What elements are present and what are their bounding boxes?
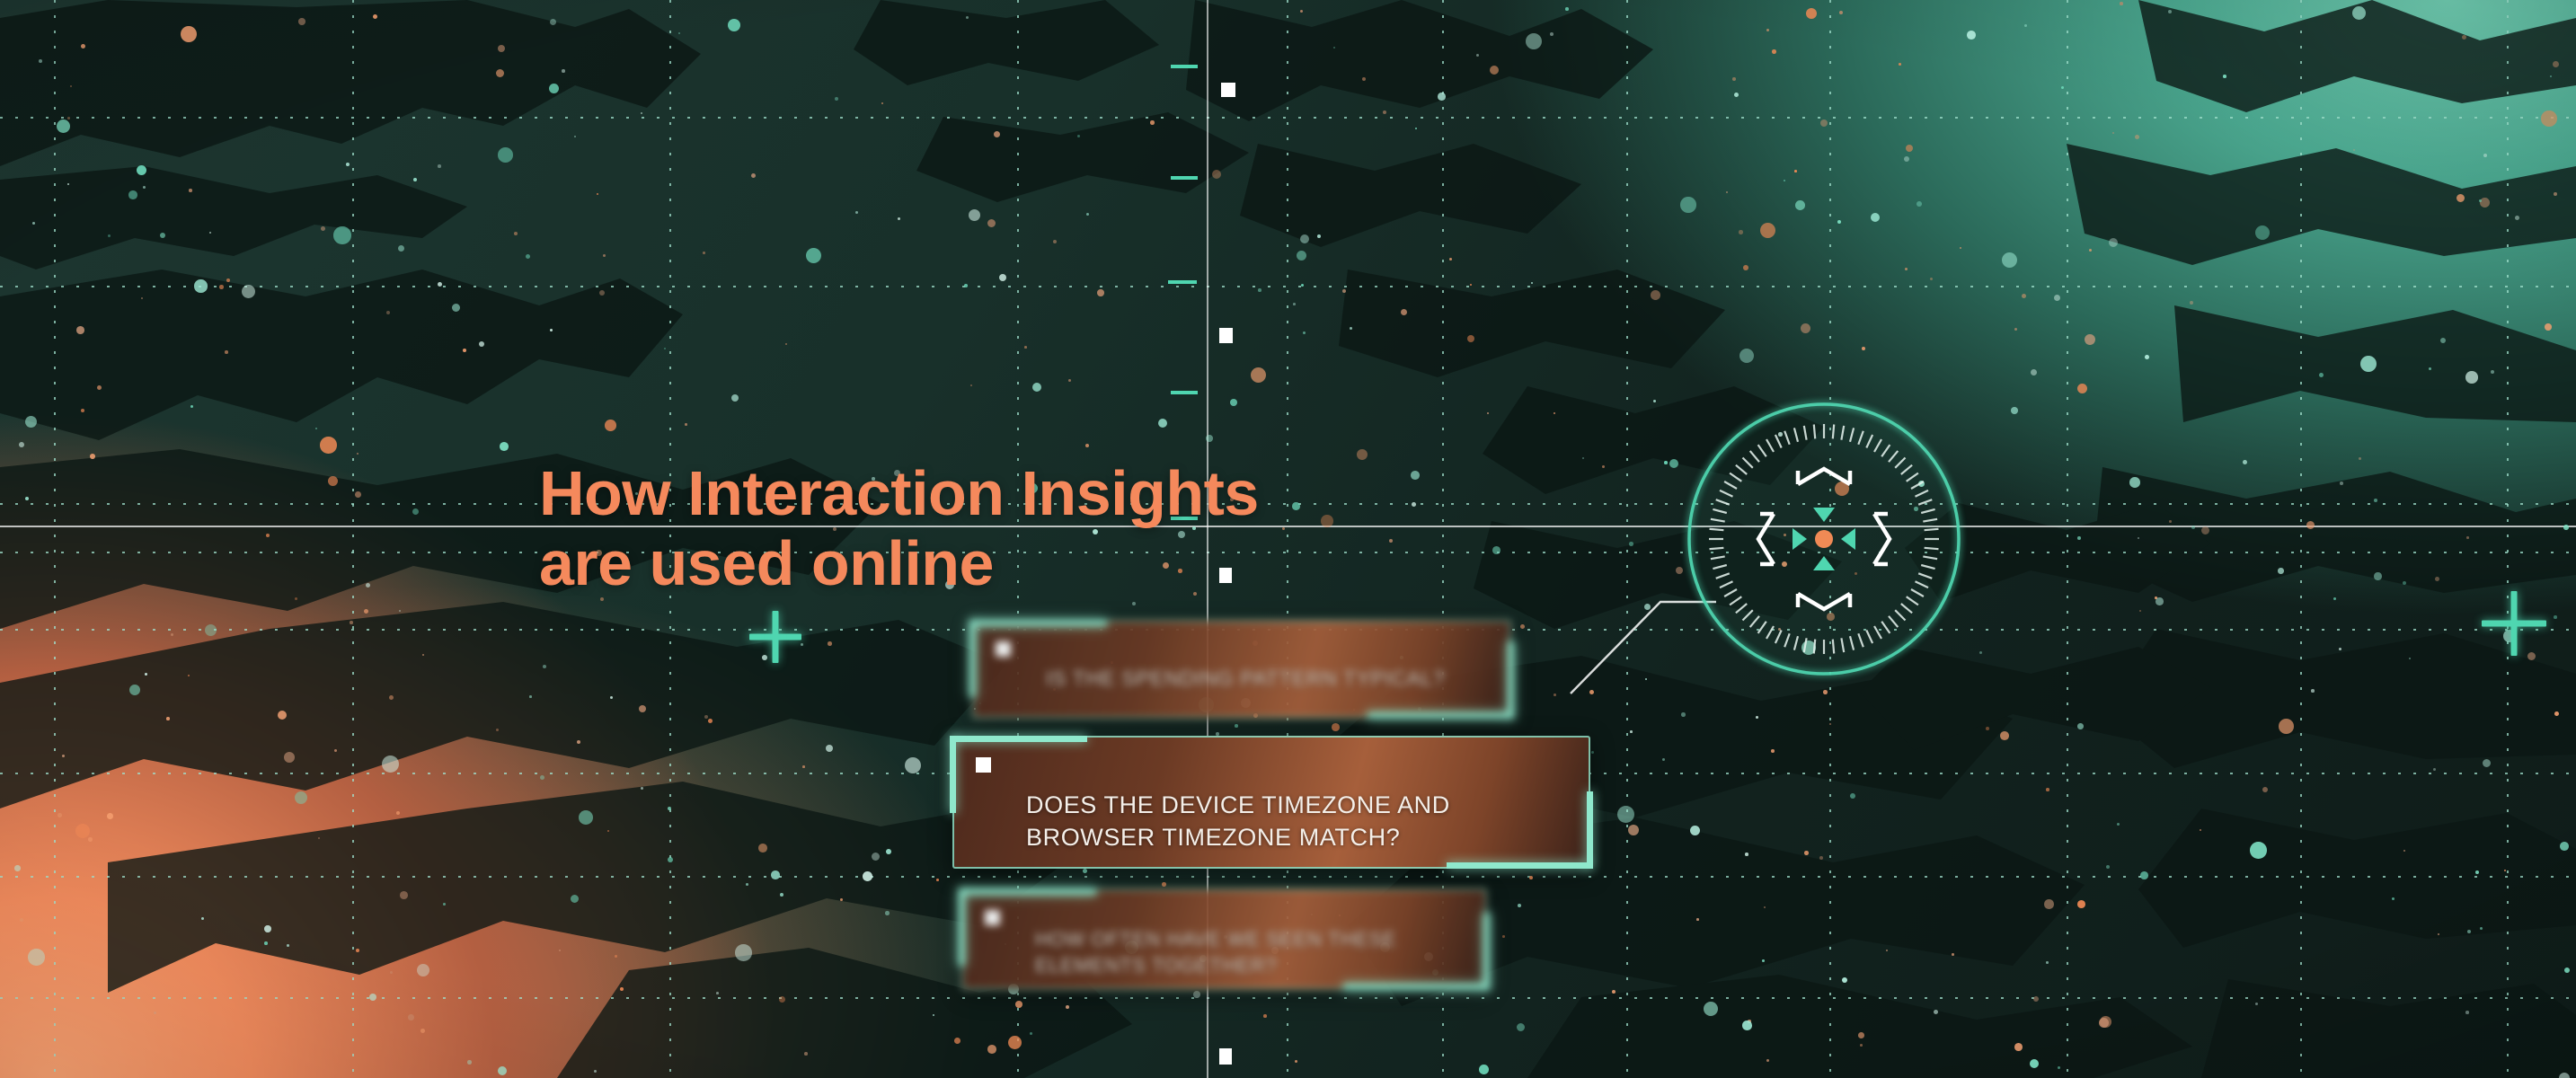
particle-dot	[577, 740, 580, 744]
particle-dot	[67, 183, 69, 185]
particle-dot	[771, 870, 780, 879]
card-accent-left	[950, 736, 956, 813]
particle-dot	[2466, 536, 2469, 539]
particle-dot	[728, 19, 740, 31]
particle-dot	[1230, 399, 1237, 406]
card-accent-bottom-right	[1343, 984, 1487, 990]
particle-dot	[2262, 787, 2268, 792]
particle-dot	[190, 405, 193, 408]
particle-dot	[264, 925, 271, 932]
particle-dot	[58, 813, 62, 817]
particle-dot	[1297, 251, 1306, 261]
particle-dot	[2109, 238, 2118, 247]
particle-dot	[999, 274, 1006, 281]
particle-dot	[264, 941, 268, 945]
particle-dot	[1629, 542, 1633, 546]
particle-dot	[2191, 526, 2195, 529]
particle-dot	[422, 654, 424, 656]
particle-dot	[2409, 658, 2411, 659]
particle-dot	[1820, 119, 1828, 127]
particle-dot	[2467, 930, 2471, 933]
particle-dot	[1742, 1021, 1752, 1030]
particle-dot	[1739, 230, 1743, 234]
particle-dot	[1952, 953, 1954, 956]
particle-dot	[1300, 10, 1303, 13]
particle-dot	[936, 879, 939, 881]
particle-dot	[382, 755, 399, 773]
particle-dot	[1150, 120, 1155, 125]
particle-dot	[390, 971, 393, 974]
crosshair-marker	[2482, 591, 2546, 656]
axis-tick-square	[1219, 1048, 1232, 1065]
particle-dot	[2061, 86, 2064, 89]
particle-dot	[1760, 223, 1775, 238]
particle-dot	[20, 918, 23, 922]
particle-dot	[970, 384, 972, 386]
particle-dot	[826, 745, 833, 752]
particle-dot	[39, 59, 42, 63]
particle-dot	[57, 119, 70, 133]
particle-dot	[1321, 515, 1333, 527]
particle-dot	[620, 987, 624, 991]
particle-dot	[107, 813, 113, 819]
particle-dot	[1077, 135, 1080, 137]
particle-dot	[1487, 412, 1489, 414]
particle-dot	[2014, 1043, 2023, 1051]
particle-dot	[2024, 24, 2027, 27]
particle-dot	[703, 252, 705, 254]
particle-dot	[886, 849, 891, 854]
particle-dot	[278, 711, 287, 720]
axis-tick-square	[1221, 83, 1235, 97]
particle-dot	[1526, 33, 1542, 49]
particle-dot	[2054, 295, 2060, 301]
particle-dot	[2046, 961, 2049, 964]
particle-dot	[2169, 520, 2172, 523]
particle-dot	[219, 285, 224, 289]
particle-dot	[2359, 457, 2361, 460]
particle-dot	[1449, 258, 1452, 261]
particle-dot	[716, 992, 719, 994]
particle-dot	[2333, 597, 2336, 600]
particle-dot	[2156, 597, 2164, 605]
particle-dot	[1362, 77, 1366, 81]
particle-dot	[417, 964, 429, 976]
particle-dot	[2429, 367, 2431, 370]
particle-dot	[1086, 213, 1089, 216]
particle-dot	[1930, 278, 1933, 280]
particle-dot	[1842, 977, 1847, 983]
particle-dot	[678, 32, 680, 34]
particle-dot	[2465, 1011, 2469, 1014]
particle-dot	[2374, 572, 2382, 580]
particle-dot	[1251, 367, 1266, 383]
particle-dot	[2155, 596, 2157, 599]
particle-dot	[863, 871, 872, 881]
particle-dot	[1764, 906, 1766, 908]
particle-dot	[2106, 865, 2110, 869]
particle-dot	[550, 329, 553, 331]
particle-dot	[1470, 284, 1472, 286]
particle-dot	[2440, 338, 2446, 343]
particle-dot	[1979, 651, 1982, 654]
particle-dot	[19, 442, 24, 447]
mint-dash	[1171, 65, 1198, 68]
particle-dot	[641, 112, 642, 114]
particle-dot	[2129, 477, 2140, 488]
particle-dot	[1317, 234, 1321, 238]
particle-dot	[14, 865, 21, 871]
particle-dot	[574, 136, 576, 137]
particle-dot	[779, 996, 785, 1003]
particle-dot	[1801, 323, 1810, 333]
particle-dot	[969, 209, 980, 221]
particle-dot	[194, 279, 208, 293]
particle-dot	[840, 898, 843, 901]
particle-dot	[2140, 871, 2148, 879]
particle-dot	[1860, 1044, 1863, 1047]
particle-dot	[413, 178, 417, 181]
particle-dot	[2563, 525, 2569, 530]
particle-dot	[954, 1038, 960, 1044]
particle-dot	[2223, 75, 2226, 78]
question-card-focused[interactable]: DOES THE DEVICE TIMEZONE AND BROWSER TIM…	[952, 736, 1590, 869]
particle-dot	[32, 222, 35, 225]
particle-dot	[2483, 759, 2491, 767]
particle-dot	[295, 791, 307, 804]
particle-dot	[498, 147, 513, 163]
particle-dot	[607, 830, 609, 832]
particle-dot	[443, 903, 446, 906]
particle-dot	[2117, 823, 2120, 826]
particle-dot	[2306, 521, 2315, 529]
particle-dot	[1401, 309, 1407, 315]
particle-dot	[420, 1029, 425, 1033]
particle-dot	[2564, 968, 2570, 973]
square-bullet-icon	[976, 757, 991, 773]
particle-dot	[2504, 870, 2506, 871]
particle-dot	[1097, 289, 1104, 296]
question-card[interactable]: IS THE SPENDING PATTERN TYPICAL?	[972, 620, 1511, 719]
particle-dot	[1282, 527, 1285, 530]
particle-dot	[181, 26, 197, 42]
particle-dot	[835, 97, 838, 101]
particle-dot	[2077, 723, 2084, 729]
particle-dot	[287, 944, 289, 947]
particle-dot	[2339, 648, 2341, 650]
particle-dot	[452, 304, 460, 312]
particle-dot	[1690, 826, 1700, 835]
particle-dot	[704, 715, 708, 719]
particle-dot	[668, 857, 673, 862]
particle-dot	[81, 44, 85, 49]
radar-targeting-reticle	[1673, 388, 1975, 690]
particle-dot	[987, 1045, 996, 1054]
card-accent-top-left	[972, 620, 1107, 626]
particle-dot	[2168, 10, 2172, 13]
square-bullet-icon	[985, 910, 1000, 925]
particle-dot	[1206, 435, 1213, 442]
particle-dot	[1734, 93, 1739, 97]
particle-dot	[141, 297, 143, 299]
particle-dot	[90, 454, 95, 459]
particle-dot	[2353, 149, 2355, 151]
particle-dot	[209, 232, 211, 234]
particle-dot	[334, 749, 337, 752]
card-accent-bottom-right	[1447, 862, 1590, 869]
particle-dot	[1858, 1032, 1864, 1038]
particle-dot	[550, 19, 556, 25]
particle-dot	[1550, 32, 1554, 36]
particle-dot	[1350, 327, 1352, 330]
particle-dot	[97, 385, 102, 390]
particle-dot	[1795, 200, 1805, 210]
particle-dot	[1389, 539, 1393, 543]
particle-dot	[1602, 465, 1605, 468]
hero-banner: How Interaction Insights are used online…	[0, 0, 2576, 1078]
particle-dot	[2554, 192, 2557, 196]
particle-dot	[356, 949, 359, 952]
particle-dot	[1565, 7, 1569, 11]
particle-dot	[369, 994, 376, 1001]
mint-dash	[1171, 176, 1198, 180]
particle-dot	[2255, 1003, 2258, 1005]
card-accent-left	[969, 620, 976, 697]
card-accent-top-left	[952, 736, 1087, 742]
particle-dot	[28, 949, 45, 966]
particle-dot	[498, 45, 505, 52]
particle-dot	[966, 16, 969, 19]
particle-dot	[802, 765, 805, 768]
particle-dot	[137, 165, 146, 175]
particle-dot	[201, 917, 204, 920]
particle-dot	[641, 787, 643, 790]
particle-dot	[70, 85, 72, 87]
particle-dot	[2250, 842, 2267, 859]
particle-dot	[188, 675, 190, 676]
particle-dot	[2120, 2, 2123, 5]
particle-dot	[1899, 63, 1901, 66]
particle-dot	[1662, 758, 1665, 761]
page-title: How Interaction Insights are used online	[539, 458, 1259, 599]
particle-dot	[189, 189, 192, 192]
particle-dot	[76, 326, 84, 334]
particle-dot	[2200, 829, 2201, 831]
particle-dot	[2138, 537, 2139, 539]
particle-dot	[496, 69, 504, 77]
particle-dot	[1906, 145, 1913, 152]
particle-dot	[1490, 66, 1499, 75]
particle-dot	[1258, 288, 1261, 292]
particle-dot	[2077, 536, 2081, 540]
particle-dot	[1412, 502, 1416, 507]
particle-dot	[2190, 301, 2193, 305]
question-card[interactable]: HOW OFTEN HAVE WE SEEN THESE ELEMENTS TO…	[961, 888, 1487, 990]
particle-dot	[2403, 850, 2405, 852]
particle-dot	[2483, 154, 2487, 157]
particle-dot	[1068, 379, 1071, 382]
particle-dot	[1295, 1060, 1297, 1063]
particle-dot	[562, 69, 565, 73]
particle-dot	[25, 497, 29, 500]
card-accent-left	[959, 888, 965, 966]
particle-dot	[67, 117, 70, 119]
particle-dot	[2011, 407, 2018, 414]
particle-dot	[75, 824, 90, 838]
particle-dot	[872, 853, 880, 861]
particle-dot	[1839, 11, 1843, 14]
particle-dot	[1704, 1002, 1718, 1016]
particle-dot	[1696, 918, 1699, 921]
particle-dot	[731, 394, 739, 402]
particle-dot	[1739, 349, 1754, 363]
particle-dot	[1829, 723, 1831, 725]
particle-dot	[1301, 284, 1304, 287]
particle-dot	[685, 423, 687, 426]
particle-dot	[2319, 373, 2324, 377]
particle-dot	[571, 895, 579, 903]
particle-dot	[987, 219, 996, 227]
particle-dot	[2559, 1073, 2570, 1078]
particle-dot	[2014, 328, 2017, 331]
particle-dot	[1582, 457, 1584, 459]
card-accent-top-left	[961, 888, 1096, 895]
particle-dot	[2340, 482, 2343, 485]
particle-dot	[145, 673, 147, 676]
mint-dash	[1168, 280, 1197, 284]
particle-dot	[828, 641, 832, 646]
particle-dot	[579, 810, 593, 825]
particle-dot	[2480, 927, 2483, 930]
particle-dot	[1871, 213, 1880, 222]
particle-dot	[2480, 198, 2490, 208]
particle-dot	[1664, 461, 1668, 464]
particle-dot	[143, 186, 146, 189]
particle-dot	[225, 350, 228, 354]
particle-dot	[2545, 323, 2552, 331]
particle-dot	[2278, 568, 2284, 574]
particle-dot	[605, 420, 616, 431]
particle-dot	[615, 955, 617, 958]
particle-dot	[1819, 856, 1823, 860]
question-card-list: IS THE SPENDING PATTERN TYPICAL? DOES TH…	[952, 620, 1653, 990]
particle-dot	[746, 883, 748, 886]
particle-dot	[1806, 8, 1817, 19]
particle-dot	[2560, 842, 2569, 851]
particle-dot	[2475, 870, 2479, 874]
particle-dot	[2515, 216, 2519, 220]
particle-dot	[2077, 900, 2085, 908]
particle-dot	[2033, 996, 2039, 1002]
particle-dot	[1680, 197, 1696, 213]
particle-dot	[2479, 199, 2482, 202]
particle-dot	[295, 597, 297, 600]
particle-dot	[2360, 356, 2377, 372]
particle-dot	[350, 621, 353, 624]
particle-dot	[2000, 731, 2009, 740]
particle-dot	[1085, 444, 1089, 447]
particle-dot	[1986, 727, 1989, 730]
particle-dot	[496, 729, 499, 731]
particle-dot	[1651, 290, 1660, 300]
particle-dot	[315, 428, 317, 429]
particle-dot	[1517, 1023, 1525, 1031]
particle-dot	[88, 837, 93, 842]
particle-dot	[1383, 110, 1386, 114]
particle-dot	[2456, 194, 2465, 202]
particle-dot	[1745, 853, 1748, 856]
particle-dot	[298, 18, 305, 25]
particle-dot	[2030, 1059, 2039, 1068]
particle-dot	[1762, 959, 1765, 962]
particle-dot	[1743, 265, 1748, 270]
particle-dot	[2031, 369, 2037, 376]
particle-dot	[171, 633, 173, 636]
particle-dot	[1612, 990, 1616, 994]
particle-dot	[1766, 29, 1769, 31]
particle-dot	[1726, 191, 1728, 193]
particle-dot	[2099, 1018, 2109, 1028]
particle-dot	[386, 311, 390, 314]
particle-dot	[1784, 180, 1785, 181]
particle-dot	[463, 349, 466, 352]
particle-dot	[389, 695, 394, 700]
particle-dot	[2435, 577, 2439, 581]
particle-dot	[2022, 294, 2026, 298]
particle-dot	[549, 84, 559, 93]
particle-dot	[1132, 602, 1136, 605]
particle-dot	[2462, 35, 2466, 40]
particle-dot	[1030, 1032, 1032, 1035]
particle-dot	[2374, 499, 2377, 502]
particle-dot	[2465, 371, 2478, 384]
particle-dot	[1850, 793, 1855, 799]
particle-dot	[898, 217, 900, 220]
particle-dot	[1732, 77, 1736, 81]
particle-dot	[559, 950, 561, 951]
particle-dot	[1292, 502, 1300, 510]
particle-dot	[994, 131, 1000, 137]
particle-dot	[1905, 268, 1908, 270]
particle-dot	[785, 343, 787, 345]
particle-dot	[905, 757, 921, 773]
particle-dot	[885, 911, 890, 915]
particle-dot	[2077, 384, 2087, 393]
question-text: IS THE SPENDING PATTERN TYPICAL?	[974, 622, 1509, 721]
particle-dot	[529, 695, 532, 698]
particle-dot	[438, 164, 441, 168]
particle-dot	[1934, 1010, 1938, 1014]
particle-dot	[373, 14, 377, 19]
particle-dot	[412, 508, 419, 515]
particle-dot	[1766, 1059, 1769, 1062]
particle-dot	[333, 226, 351, 244]
particle-dot	[964, 284, 968, 287]
particle-dot	[1823, 690, 1828, 694]
particle-dot	[1333, 47, 1335, 49]
particle-dot	[1158, 419, 1167, 428]
particle-dot	[160, 233, 165, 238]
particle-dot	[1804, 851, 1809, 855]
particle-dot	[1653, 400, 1656, 402]
particle-dot	[1300, 234, 1309, 243]
particle-dot	[2112, 132, 2114, 134]
particle-dot	[2044, 899, 2054, 909]
particle-dot	[1904, 156, 1909, 162]
particle-dot	[2279, 719, 2294, 734]
particle-dot	[479, 341, 484, 347]
particle-dot	[396, 811, 400, 815]
